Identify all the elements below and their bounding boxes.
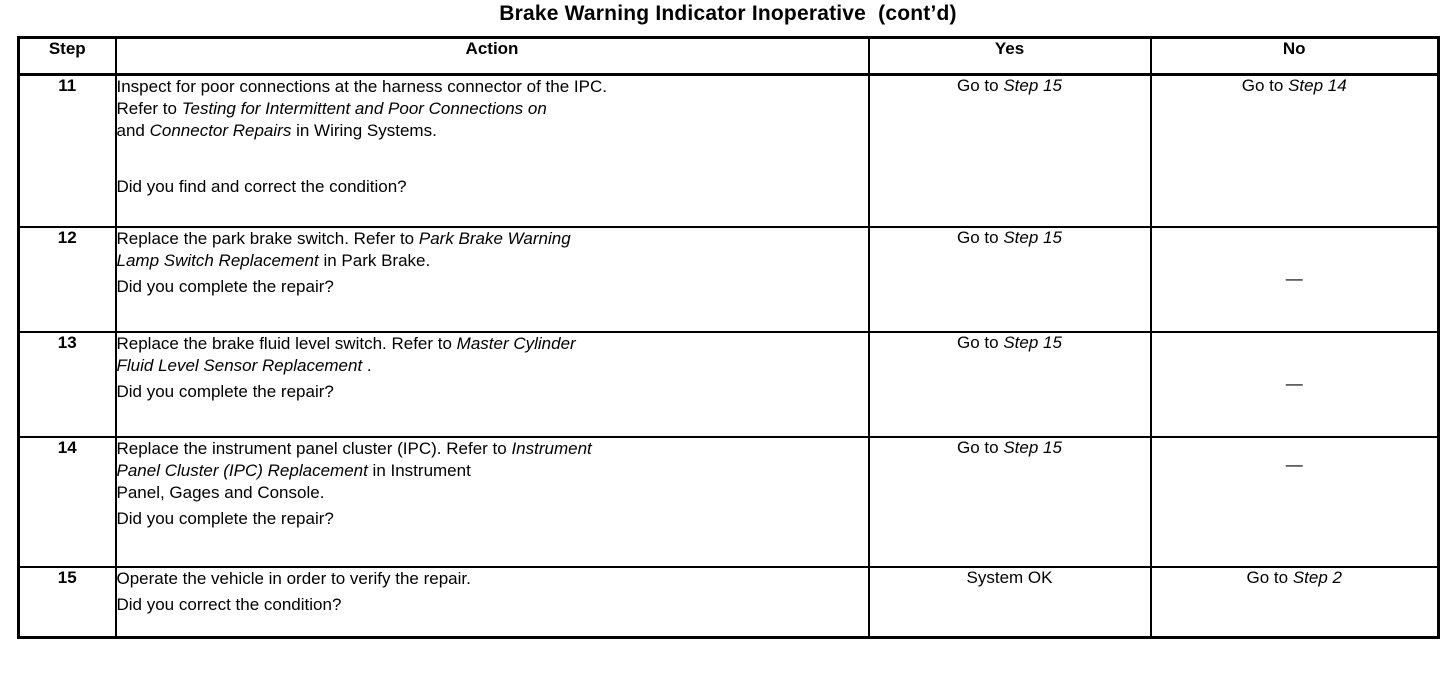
action-text: Replace the brake fluid level switch. Re… <box>117 333 868 377</box>
no-answer-prefix: Go to <box>1242 76 1288 95</box>
action-line: Replace the park brake switch. Refer to <box>117 229 419 248</box>
action-line: Inspect for poor connections at the harn… <box>117 77 607 96</box>
action-cell: Operate the vehicle in order to verify t… <box>116 567 869 638</box>
action-reference: Lamp Switch Replacement <box>117 251 319 270</box>
action-question: Did you correct the condition? <box>117 594 868 616</box>
action-question: Did you find and correct the condition? <box>117 176 868 198</box>
table-row: 14 Replace the instrument panel cluster … <box>19 437 1439 567</box>
no-answer-dash: — <box>1286 270 1303 287</box>
no-cell: — <box>1151 227 1439 332</box>
yes-answer-text: System OK <box>967 568 1053 587</box>
no-answer-dash: — <box>1286 456 1303 473</box>
step-number: 13 <box>19 332 116 437</box>
action-line: Operate the vehicle in order to verify t… <box>117 569 471 588</box>
action-text: Replace the park brake switch. Refer to … <box>117 228 868 272</box>
step-number: 15 <box>19 567 116 638</box>
action-text: Replace the instrument panel cluster (IP… <box>117 438 868 504</box>
action-reference: Connector Repairs <box>150 121 292 140</box>
yes-answer-step: Step 15 <box>1003 333 1062 352</box>
action-text: Operate the vehicle in order to verify t… <box>117 568 868 590</box>
action-text: Inspect for poor connections at the harn… <box>117 76 868 142</box>
action-reference: Instrument <box>511 439 591 458</box>
table-header-row: Step Action Yes No <box>19 38 1439 75</box>
action-cell: Replace the brake fluid level switch. Re… <box>116 332 869 437</box>
action-line: and <box>117 121 150 140</box>
action-reference: Panel Cluster (IPC) Replacement <box>117 461 368 480</box>
action-line: Panel, Gages and Console. <box>117 483 325 502</box>
column-header-no: No <box>1151 38 1439 75</box>
spacer <box>117 142 868 176</box>
action-reference: Fluid Level Sensor Replacement <box>117 356 363 375</box>
yes-cell: Go to Step 15 <box>869 437 1151 567</box>
no-answer-prefix: Go to <box>1247 568 1293 587</box>
step-number: 14 <box>19 437 116 567</box>
action-question: Did you complete the repair? <box>117 508 868 530</box>
action-reference: Master Cylinder <box>457 334 576 353</box>
column-header-step: Step <box>19 38 116 75</box>
action-line: in Instrument <box>368 461 471 480</box>
yes-answer-prefix: Go to <box>957 333 1003 352</box>
no-answer-step: Step 2 <box>1293 568 1342 587</box>
action-cell: Inspect for poor connections at the harn… <box>116 75 869 227</box>
no-cell: — <box>1151 437 1439 567</box>
step-number: 11 <box>19 75 116 227</box>
action-line: Refer to <box>117 99 182 118</box>
diagnostic-table: Step Action Yes No 11 Inspect for poor c… <box>17 36 1440 639</box>
action-line: Replace the instrument panel cluster (IP… <box>117 439 512 458</box>
column-header-yes: Yes <box>869 38 1151 75</box>
table-header: Step Action Yes No <box>19 38 1439 75</box>
action-question: Did you complete the repair? <box>117 276 868 298</box>
yes-answer-prefix: Go to <box>957 438 1003 457</box>
no-cell: Go to Step 14 <box>1151 75 1439 227</box>
document-page: Brake Warning Indicator Inoperative (con… <box>0 0 1456 682</box>
action-line: in Wiring Systems. <box>291 121 436 140</box>
yes-cell: System OK <box>869 567 1151 638</box>
action-reference: Park Brake Warning <box>419 229 571 248</box>
page-title: Brake Warning Indicator Inoperative (con… <box>0 2 1456 26</box>
action-reference: Testing for Intermittent and Poor Connec… <box>182 99 547 118</box>
no-cell: — <box>1151 332 1439 437</box>
yes-answer-step: Step 15 <box>1003 76 1062 95</box>
yes-cell: Go to Step 15 <box>869 75 1151 227</box>
action-line: Replace the brake fluid level switch. Re… <box>117 334 457 353</box>
yes-answer-prefix: Go to <box>957 76 1003 95</box>
action-question: Did you complete the repair? <box>117 381 868 403</box>
yes-answer-step: Step 15 <box>1003 438 1062 457</box>
yes-cell: Go to Step 15 <box>869 227 1151 332</box>
action-cell: Replace the park brake switch. Refer to … <box>116 227 869 332</box>
action-line: . <box>362 356 371 375</box>
table-body: 11 Inspect for poor connections at the h… <box>19 75 1439 638</box>
no-cell: Go to Step 2 <box>1151 567 1439 638</box>
no-answer-dash: — <box>1286 375 1303 392</box>
yes-answer-prefix: Go to <box>957 228 1003 247</box>
no-answer-step: Step 14 <box>1288 76 1347 95</box>
action-cell: Replace the instrument panel cluster (IP… <box>116 437 869 567</box>
table-row: 11 Inspect for poor connections at the h… <box>19 75 1439 227</box>
yes-cell: Go to Step 15 <box>869 332 1151 437</box>
step-number: 12 <box>19 227 116 332</box>
table-row: 12 Replace the park brake switch. Refer … <box>19 227 1439 332</box>
yes-answer-step: Step 15 <box>1003 228 1062 247</box>
column-header-action: Action <box>116 38 869 75</box>
table-row: 13 Replace the brake fluid level switch.… <box>19 332 1439 437</box>
table-row: 15 Operate the vehicle in order to verif… <box>19 567 1439 638</box>
action-line: in Park Brake. <box>319 251 431 270</box>
